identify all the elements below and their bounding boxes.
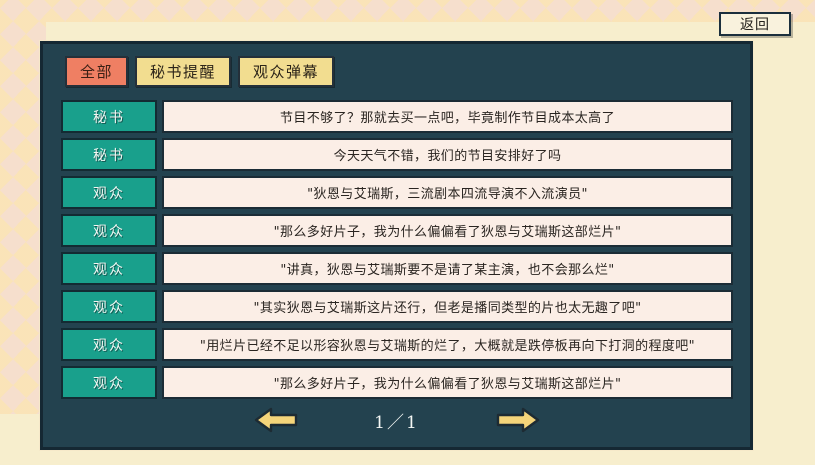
left-arrow-icon[interactable] — [250, 405, 302, 435]
message-text: "讲真，狄恩与艾瑞斯要不是请了某主演，也不会那么烂" — [162, 252, 733, 285]
message-speaker: 观众 — [61, 328, 157, 361]
tab-all-label: 全部 — [80, 61, 113, 82]
back-button[interactable]: 返回 — [719, 12, 791, 36]
tab-secretary-reminder-label: 秘书提醒 — [150, 61, 216, 82]
back-button-label: 返回 — [740, 14, 770, 34]
message-speaker: 观众 — [61, 366, 157, 399]
message-speaker: 观众 — [61, 290, 157, 323]
message-text: "其实狄恩与艾瑞斯这片还行，但老是播同类型的片也太无趣了吧" — [162, 290, 733, 323]
right-arrow-icon[interactable] — [492, 405, 544, 435]
tab-secretary-reminder[interactable]: 秘书提醒 — [135, 56, 231, 87]
message-text: "用烂片已经不足以形容狄恩与艾瑞斯的烂了，大概就是跌停板再向下打洞的程度吧" — [162, 328, 733, 361]
app-root: 返回 全部 秘书提醒 观众弹幕 秘书 节目不够了？那就去买一点吧，毕竟制作节目成… — [0, 0, 815, 465]
list-item[interactable]: 观众 "其实狄恩与艾瑞斯这片还行，但老是播同类型的片也太无趣了吧" — [61, 290, 733, 323]
tab-audience-danmaku-label: 观众弹幕 — [253, 61, 319, 82]
list-item[interactable]: 秘书 今天天气不错，我们的节目安排好了吗 — [61, 138, 733, 171]
tab-audience-danmaku[interactable]: 观众弹幕 — [238, 56, 334, 87]
message-speaker: 观众 — [61, 214, 157, 247]
list-item[interactable]: 观众 "那么多好片子，我为什么偏偏看了狄恩与艾瑞斯这部烂片" — [61, 366, 733, 399]
message-speaker: 秘书 — [61, 100, 157, 133]
message-speaker: 秘书 — [61, 138, 157, 171]
pagination: 1／1 — [43, 403, 750, 437]
tab-strip: 全部 秘书提醒 观众弹幕 — [65, 56, 334, 87]
message-speaker: 观众 — [61, 176, 157, 209]
message-text: "那么多好片子，我为什么偏偏看了狄恩与艾瑞斯这部烂片" — [162, 366, 733, 399]
message-text: "狄恩与艾瑞斯，三流剧本四流导演不入流演员" — [162, 176, 733, 209]
message-text: 节目不够了？那就去买一点吧，毕竟制作节目成本太高了 — [162, 100, 733, 133]
message-list: 秘书 节目不够了？那就去买一点吧，毕竟制作节目成本太高了 秘书 今天天气不错，我… — [61, 100, 733, 399]
main-panel: 全部 秘书提醒 观众弹幕 秘书 节目不够了？那就去买一点吧，毕竟制作节目成本太高… — [40, 41, 753, 450]
message-text: 今天天气不错，我们的节目安排好了吗 — [162, 138, 733, 171]
page-indicator: 1／1 — [302, 408, 492, 433]
message-speaker: 观众 — [61, 252, 157, 285]
list-item[interactable]: 观众 "那么多好片子，我为什么偏偏看了狄恩与艾瑞斯这部烂片" — [61, 214, 733, 247]
tab-all[interactable]: 全部 — [65, 56, 128, 87]
list-item[interactable]: 观众 "狄恩与艾瑞斯，三流剧本四流导演不入流演员" — [61, 176, 733, 209]
list-item[interactable]: 观众 "讲真，狄恩与艾瑞斯要不是请了某主演，也不会那么烂" — [61, 252, 733, 285]
list-item[interactable]: 秘书 节目不够了？那就去买一点吧，毕竟制作节目成本太高了 — [61, 100, 733, 133]
list-item[interactable]: 观众 "用烂片已经不足以形容狄恩与艾瑞斯的烂了，大概就是跌停板再向下打洞的程度吧… — [61, 328, 733, 361]
message-text: "那么多好片子，我为什么偏偏看了狄恩与艾瑞斯这部烂片" — [162, 214, 733, 247]
